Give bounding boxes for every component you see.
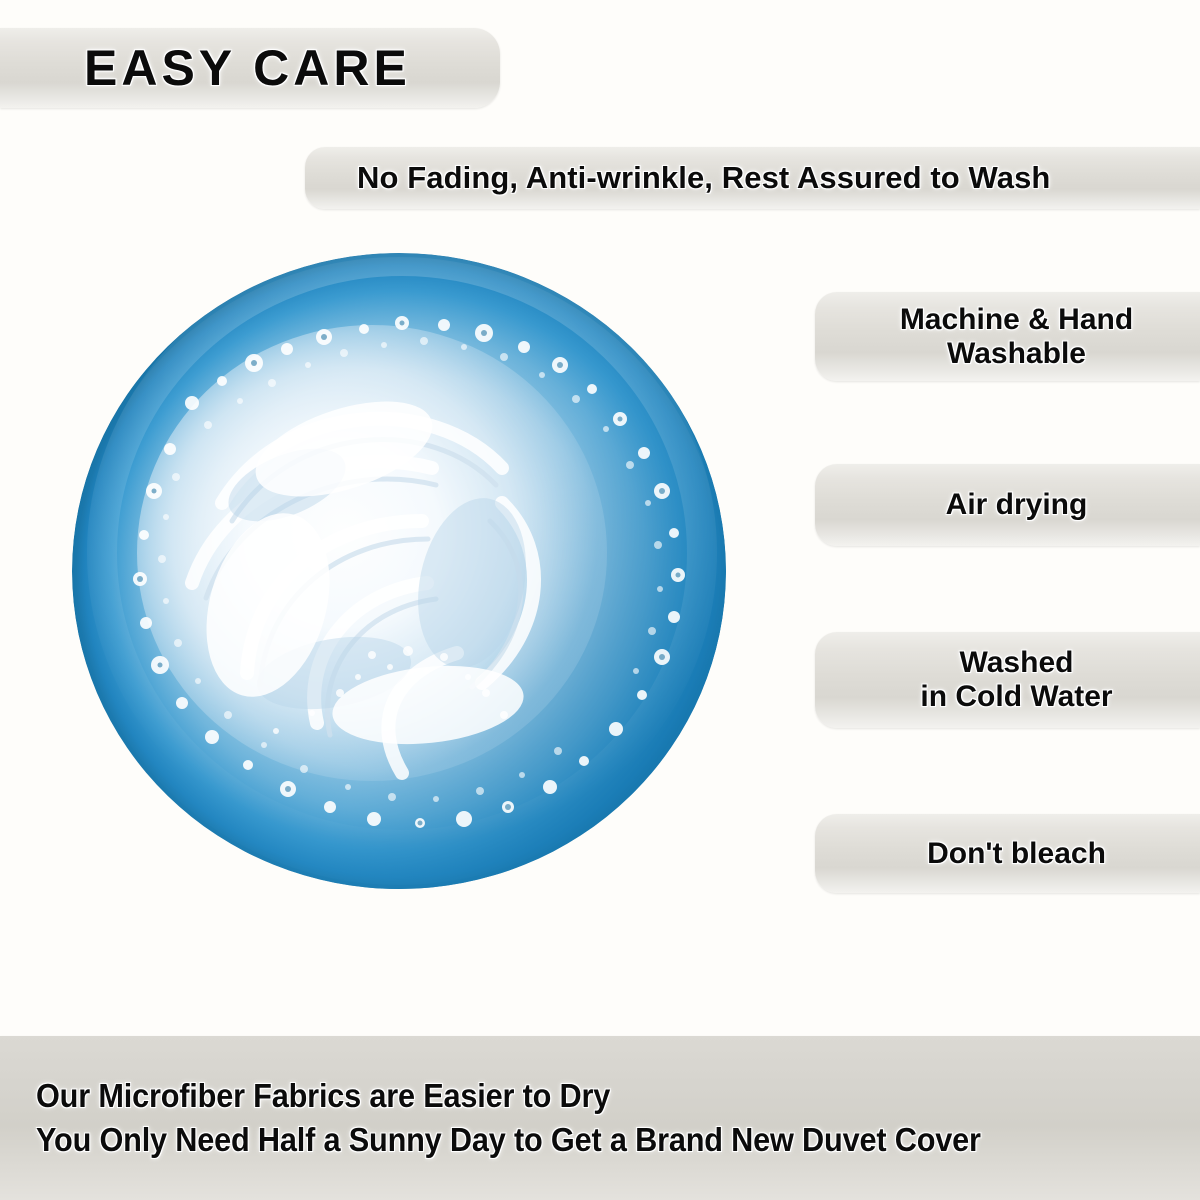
footer-line-1: Our Microfiber Fabrics are Easier to Dry: [36, 1074, 610, 1118]
infographic-canvas: EASY CARE No Fading, Anti-wrinkle, Rest …: [0, 0, 1200, 1200]
feature-badge-machine-hand-washable[interactable]: Machine & Hand Washable: [815, 292, 1200, 381]
footer-caption-bar: Our Microfiber Fabrics are Easier to Dry…: [0, 1036, 1200, 1200]
laundry-illustration: [72, 253, 726, 890]
feature-badge-air-drying[interactable]: Air drying: [815, 464, 1200, 546]
laundry-photo: [72, 253, 726, 890]
subtitle-text: No Fading, Anti-wrinkle, Rest Assured to…: [357, 161, 1050, 196]
feature-label: Air drying: [928, 488, 1088, 522]
footer-line-2: You Only Need Half a Sunny Day to Get a …: [36, 1118, 981, 1162]
feature-badge-dont-bleach[interactable]: Don't bleach: [815, 814, 1200, 893]
feature-badge-washed-cold-water[interactable]: Washed in Cold Water: [815, 632, 1200, 728]
subtitle-banner: No Fading, Anti-wrinkle, Rest Assured to…: [305, 147, 1200, 209]
page-title: EASY CARE: [84, 40, 411, 96]
feature-label: Washed in Cold Water: [902, 646, 1112, 713]
feature-label: Don't bleach: [909, 837, 1106, 871]
title-banner: EASY CARE: [0, 28, 500, 108]
feature-label: Machine & Hand Washable: [882, 303, 1133, 370]
